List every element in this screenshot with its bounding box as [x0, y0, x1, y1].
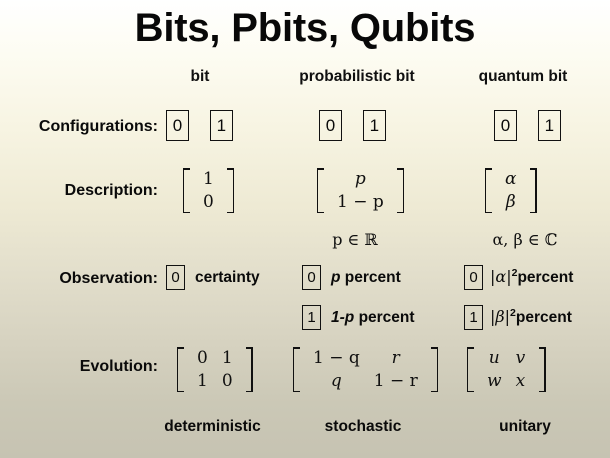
configurations-pbit-group: 0 1 — [319, 110, 386, 141]
desc-qubit-element-0: α — [498, 168, 523, 191]
evolution-qubit-caption: unitary — [455, 418, 595, 436]
obs-pbit-state-1[interactable]: 1 — [302, 305, 321, 330]
observation-qubit-row-0: 0 |α|2percent — [464, 265, 573, 290]
desc-pbit-element-0: p — [330, 168, 391, 191]
column-header-bit: bit — [150, 68, 250, 86]
bracket-right-icon — [396, 168, 405, 213]
desc-pbit-element-1: 1 − p — [330, 191, 391, 214]
obs-qubit-unit-1: percent — [516, 310, 572, 327]
obs-pbit-text-1: 1-p percent — [331, 309, 415, 327]
bracket-left-icon — [316, 168, 325, 213]
description-bit-vector: 1 0 — [182, 168, 235, 218]
obs-pbit-var-0: p — [331, 269, 340, 286]
obs-qubit-unit-0: percent — [517, 270, 573, 287]
desc-bit-element-0: 1 — [196, 168, 221, 191]
configurations-qubit-group: 0 1 — [494, 110, 561, 141]
obs-qubit-state-1[interactable]: 1 — [464, 305, 483, 330]
evo-qubit-cell-00: u — [480, 347, 509, 370]
obs-pbit-unit-0: percent — [345, 269, 401, 286]
page-title: Bits, Pbits, Qubits — [0, 8, 610, 48]
bracket-left-icon — [466, 347, 475, 392]
bracket-left-icon — [176, 347, 185, 392]
evolution-pbit-matrix: 1 − q r q 1 − r — [292, 347, 439, 397]
evo-pbit-cell-00: 1 − q — [306, 347, 367, 370]
evo-qubit-cell-10: w — [480, 370, 509, 393]
obs-qubit-var-1: |β| — [490, 308, 510, 327]
obs-qubit-text-1: |β|2percent — [490, 307, 572, 327]
obs-bit-state-0[interactable]: 0 — [166, 265, 185, 290]
evo-bit-cell-10: 1 — [190, 370, 215, 393]
bracket-right-icon — [245, 347, 254, 392]
obs-pbit-state-0[interactable]: 0 — [302, 265, 321, 290]
config-qubit-state-0[interactable]: 0 — [494, 110, 517, 141]
obs-pbit-var-1: 1-p — [331, 309, 354, 326]
row-label-observation: Observation: — [18, 270, 158, 288]
description-qubit-constraint: α, β ∈ ℂ — [450, 230, 600, 249]
obs-qubit-text-0: |α|2percent — [490, 267, 573, 287]
evo-qubit-cell-01: v — [509, 347, 533, 370]
row-label-configurations: Configurations: — [18, 118, 158, 136]
obs-pbit-unit-1: percent — [359, 309, 415, 326]
row-label-description: Description: — [18, 182, 158, 200]
evo-pbit-cell-11: 1 − r — [367, 370, 425, 393]
evo-bit-cell-01: 1 — [215, 347, 240, 370]
config-bit-state-1[interactable]: 1 — [210, 110, 233, 141]
slide-canvas: Bits, Pbits, Qubits bit probabilistic bi… — [0, 0, 610, 458]
evo-bit-cell-11: 0 — [215, 370, 240, 393]
evo-pbit-cell-01: r — [367, 347, 425, 370]
evolution-pbit-caption: stochastic — [293, 418, 433, 436]
bracket-right-icon — [537, 347, 546, 392]
obs-pbit-text-0: p percent — [331, 269, 401, 287]
observation-qubit-row-1: 1 |β|2percent — [464, 305, 572, 330]
observation-pbit-row-0: 0 p percent — [302, 265, 401, 290]
evolution-qubit-matrix: u v w x — [466, 347, 546, 397]
observation-pbit-row-1: 1 1-p percent — [302, 305, 415, 330]
evolution-bit-caption: deterministic — [140, 418, 285, 436]
description-pbit-constraint: p ∈ ℝ — [290, 230, 420, 249]
config-qubit-state-1[interactable]: 1 — [538, 110, 561, 141]
desc-qubit-element-1: β — [498, 191, 523, 214]
obs-bit-text-0: certainty — [195, 269, 260, 287]
column-header-probabilistic-bit: probabilistic bit — [272, 68, 442, 86]
bracket-left-icon — [292, 347, 301, 392]
config-pbit-state-1[interactable]: 1 — [363, 110, 386, 141]
description-pbit-vector: p 1 − p — [316, 168, 405, 218]
evo-pbit-cell-10: q — [306, 370, 367, 393]
evo-qubit-cell-11: x — [509, 370, 533, 393]
observation-bit-row-0: 0 certainty — [166, 265, 260, 290]
obs-qubit-var-0: |α| — [490, 268, 512, 287]
bracket-right-icon — [430, 347, 439, 392]
desc-bit-element-1: 0 — [196, 191, 221, 214]
bracket-right-icon — [226, 168, 235, 213]
row-label-evolution: Evolution: — [18, 358, 158, 376]
configurations-bit-group: 0 1 — [166, 110, 233, 141]
column-header-quantum-bit: quantum bit — [448, 68, 598, 86]
bracket-right-icon — [528, 168, 537, 213]
description-qubit-vector: α β — [484, 168, 537, 218]
evolution-bit-matrix: 0 1 1 0 — [176, 347, 254, 397]
bracket-left-icon — [484, 168, 493, 213]
evo-bit-cell-00: 0 — [190, 347, 215, 370]
config-pbit-state-0[interactable]: 0 — [319, 110, 342, 141]
config-bit-state-0[interactable]: 0 — [166, 110, 189, 141]
obs-qubit-state-0[interactable]: 0 — [464, 265, 483, 290]
bracket-left-icon — [182, 168, 191, 213]
